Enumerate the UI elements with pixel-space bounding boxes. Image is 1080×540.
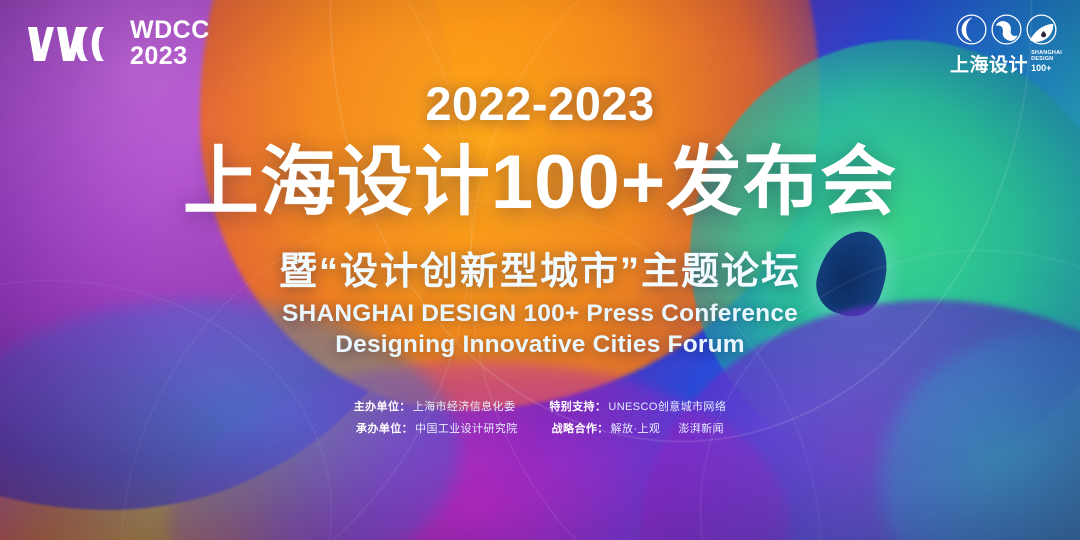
credit-special-support-value: UNESCO创意城市网络 <box>608 398 726 414</box>
credit-undertaker: 承办单位： 中国工业设计研究院 <box>356 420 518 436</box>
credit-organizer-label: 主办单位： <box>354 398 411 414</box>
credits-block: 主办单位： 上海市经济信息化委 特别支持： UNESCO创意城市网络 承办单位：… <box>0 398 1080 436</box>
credit-organizer-value: 上海市经济信息化委 <box>413 398 516 414</box>
event-poster: WDCC 2023 上海设计 SHANGHAI DESIGN <box>0 0 1080 540</box>
page-subtitle: 暨“设计创新型城市”主题论坛 <box>0 240 1080 295</box>
wdcc-line1: WDCC <box>130 18 210 44</box>
circle-droplet-icon <box>1026 14 1057 45</box>
circle-crescent-icon <box>956 14 987 45</box>
shanghai-design-en-line3: 100+ <box>1031 63 1062 74</box>
credit-strategic-partner-label: 战略合作： <box>552 420 609 436</box>
credit-undertaker-label: 承办单位： <box>356 420 413 436</box>
wdcc-monogram-icon <box>26 23 119 65</box>
credits-row-2: 承办单位： 中国工业设计研究院 战略合作： 解放·上观 澎湃新闻 <box>356 420 724 436</box>
shanghai-design-cn: 上海设计 <box>950 56 1028 75</box>
title-en-line2: Designing Innovative Cities Forum <box>0 329 1080 360</box>
credit-undertaker-value: 中国工业设计研究院 <box>415 420 518 436</box>
wdcc-line2: 2023 <box>130 44 210 70</box>
shanghai-design-wordmark: 上海设计 SHANGHAI DESIGN 100+ <box>950 50 1062 75</box>
credit-strategic-partner-value: 解放·上观 <box>611 420 661 436</box>
credits-row-1: 主办单位： 上海市经济信息化委 特别支持： UNESCO创意城市网络 <box>354 398 726 414</box>
page-title: 上海设计100+发布会 <box>0 143 1080 223</box>
circle-wave-icon <box>991 14 1022 45</box>
page-title-english: SHANGHAI DESIGN 100+ Press Conference De… <box>0 298 1080 361</box>
poster-content: 2022-2023 上海设计100+发布会 暨“设计创新型城市”主题论坛 SHA… <box>0 0 1080 540</box>
credit-strategic-partner: 战略合作： 解放·上观 澎湃新闻 <box>552 420 724 436</box>
shanghai-design-logo: 上海设计 SHANGHAI DESIGN 100+ <box>950 14 1062 75</box>
wdcc-wordmark: WDCC 2023 <box>130 18 210 69</box>
title-en-line1: SHANGHAI DESIGN 100+ Press Conference <box>282 300 798 327</box>
year-range: 2022-2023 <box>0 76 1080 131</box>
credit-special-support-label: 特别支持： <box>549 398 606 414</box>
shanghai-design-marks <box>956 14 1057 45</box>
credit-special-support: 特别支持： UNESCO创意城市网络 <box>549 398 726 414</box>
credit-strategic-partner-value-2: 澎湃新闻 <box>678 420 724 436</box>
shanghai-design-en: SHANGHAI DESIGN 100+ <box>1031 50 1062 75</box>
credit-organizer: 主办单位： 上海市经济信息化委 <box>354 398 516 414</box>
wdcc-logo: WDCC 2023 <box>26 18 210 69</box>
